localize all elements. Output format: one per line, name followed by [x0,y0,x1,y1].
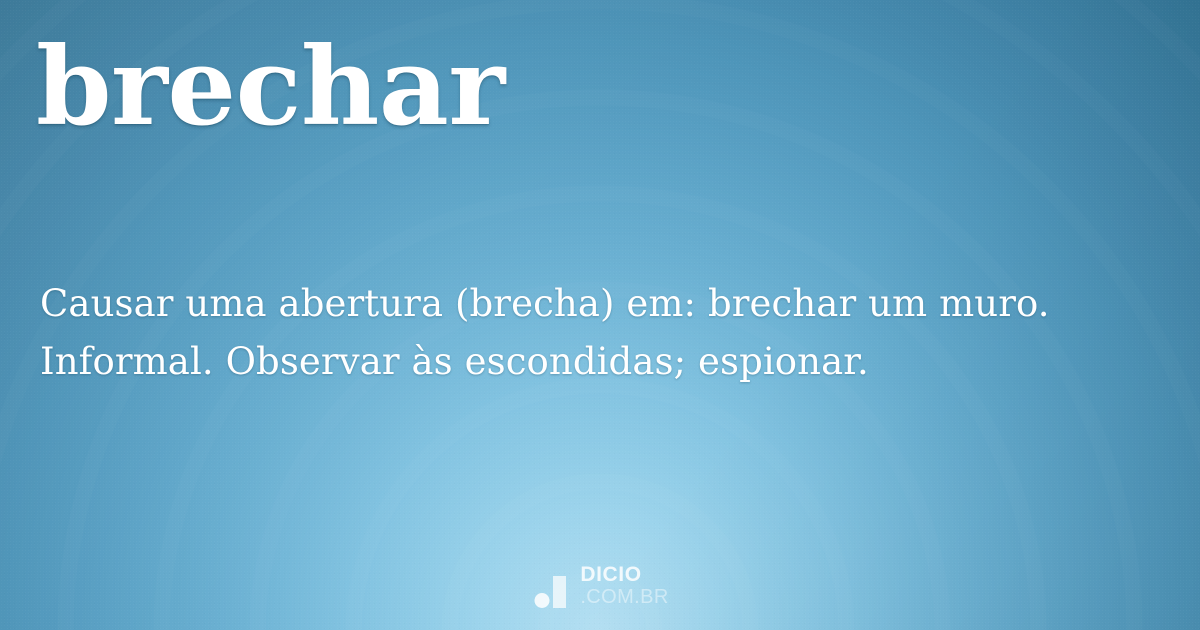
word-title: brechar [36,24,505,151]
dictionary-share-card: brechar Causar uma abertura (brecha) em:… [0,0,1200,630]
dicio-logo-name: DICIO [580,564,641,585]
dicio-wordmark: DICIO .COM.BR [580,564,668,608]
definition-item: Informal. Observar às escondidas; espion… [40,336,1155,388]
dicio-logo-tld: .COM.BR [580,587,668,607]
definition-list: Causar uma abertura (brecha) em: brechar… [40,278,1155,388]
definition-item: Causar uma abertura (brecha) em: brechar… [40,278,1155,330]
dicio-logo-mark-icon [531,576,571,608]
site-watermark: DICIO .COM.BR [0,564,1200,608]
card-content: brechar Causar uma abertura (brecha) em:… [0,0,1200,630]
